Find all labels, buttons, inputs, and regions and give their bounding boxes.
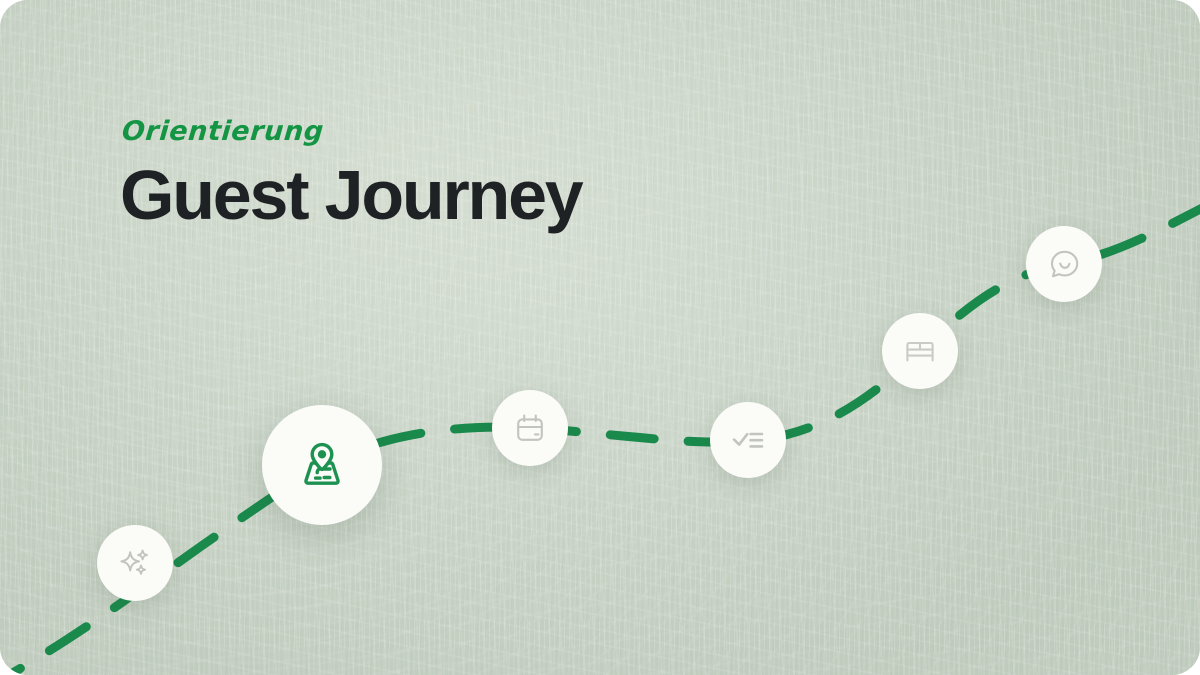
map-pin-location-icon bbox=[293, 436, 351, 494]
page-title: Guest Journey bbox=[120, 159, 582, 232]
eyebrow-label: Orientierung bbox=[121, 118, 583, 145]
sparkles-icon bbox=[118, 546, 152, 580]
journey-node-orientation[interactable] bbox=[262, 405, 382, 525]
journey-node-booking[interactable] bbox=[492, 390, 568, 466]
journey-node-stay[interactable] bbox=[882, 313, 958, 389]
bed-icon bbox=[903, 334, 937, 368]
chat-bubble-smile-icon bbox=[1047, 247, 1081, 281]
guest-journey-path bbox=[0, 0, 1200, 675]
checklist-icon bbox=[730, 422, 766, 458]
journey-node-inspiration[interactable] bbox=[97, 525, 173, 601]
headline-block: Orientierung Guest Journey bbox=[120, 118, 582, 232]
guest-journey-hero-card: Orientierung Guest Journey bbox=[0, 0, 1200, 675]
calendar-icon bbox=[513, 411, 547, 445]
journey-node-preparation[interactable] bbox=[710, 402, 786, 478]
journey-node-feedback[interactable] bbox=[1026, 226, 1102, 302]
